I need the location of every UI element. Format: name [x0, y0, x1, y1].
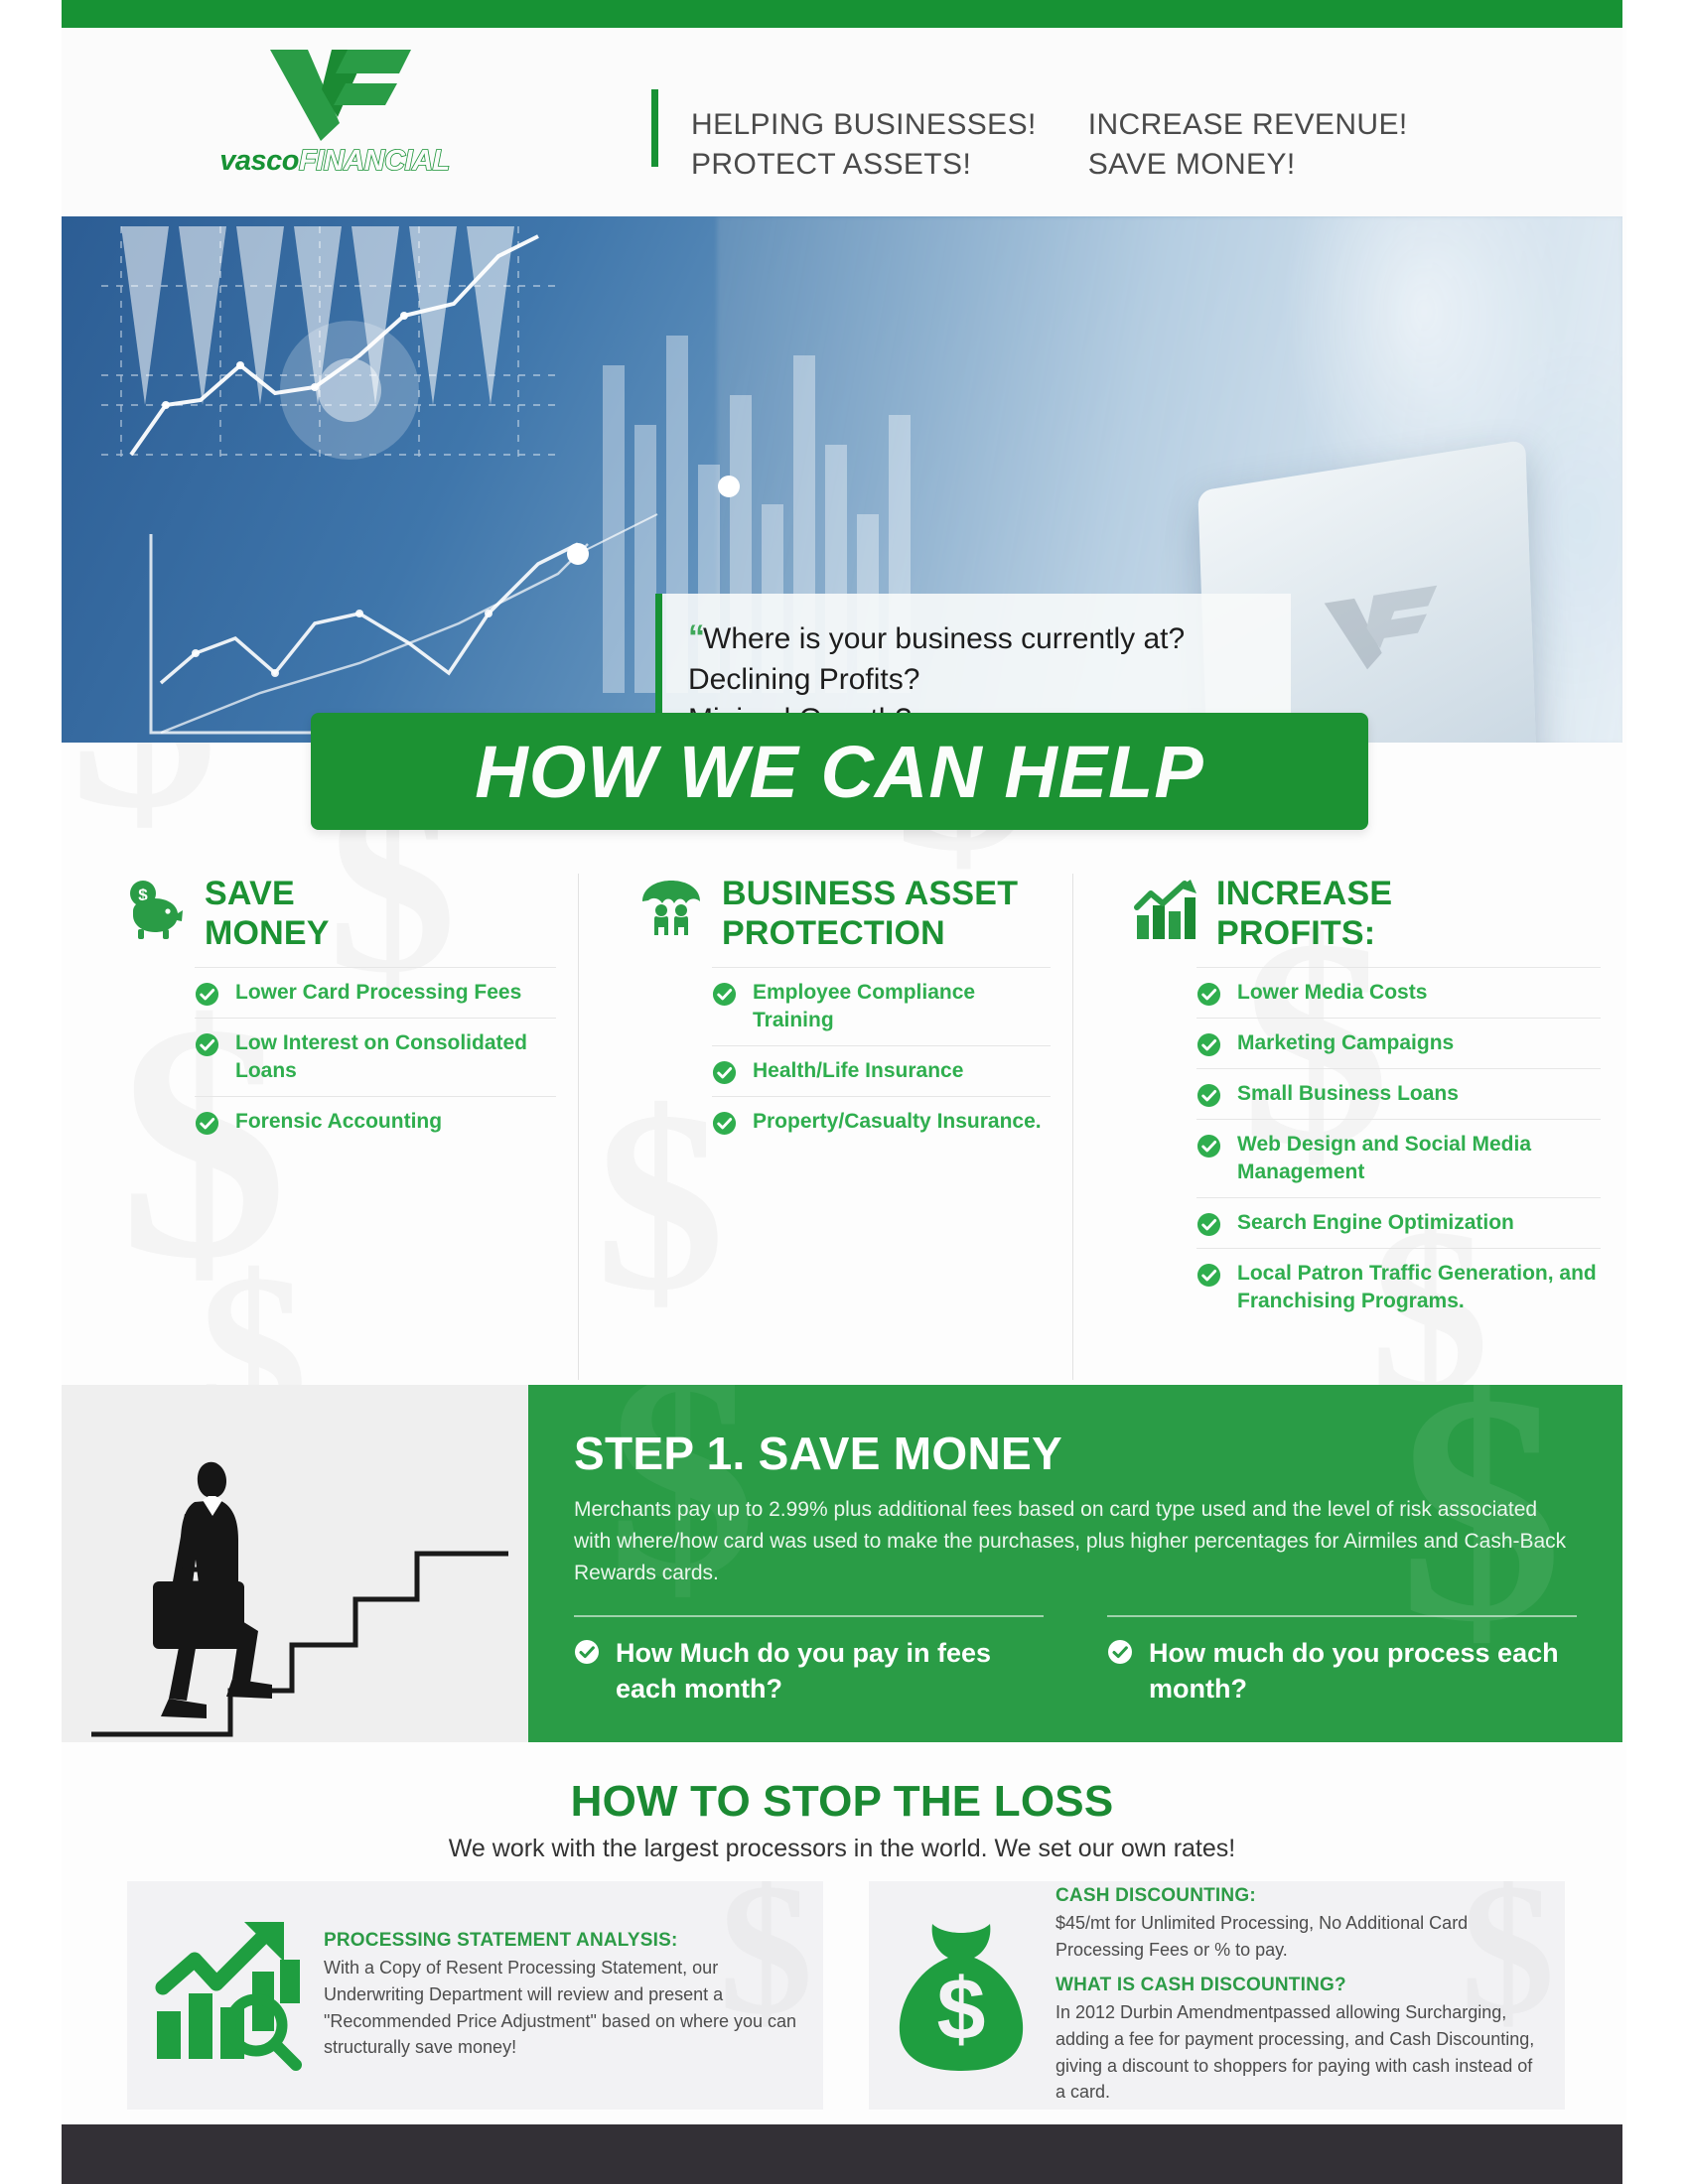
page-margin-right: [1626, 0, 1688, 2184]
feature-title-line: BUSINESS ASSET: [722, 874, 1018, 913]
tagline-line: SAVE MONEY!: [1088, 145, 1408, 185]
list-item-label: Lower Media Costs: [1237, 979, 1427, 1007]
feature-title-line: MONEY: [205, 913, 330, 953]
piggy-bank-icon: $: [121, 878, 187, 943]
list-item-label: Marketing Campaigns: [1237, 1029, 1454, 1057]
list-item[interactable]: Search Engine Optimization: [1196, 1197, 1601, 1248]
vf-logo-icon: [264, 46, 413, 141]
quote-line-2: Declining Profits?: [688, 660, 1265, 700]
check-circle-icon: [195, 1032, 219, 1057]
check-circle-icon: [712, 1060, 737, 1085]
money-bag-icon: $: [887, 1916, 1036, 2075]
step-question-label: How Much do you pay in fees each month?: [616, 1635, 1044, 1707]
chart-magnifier-icon: [145, 1916, 304, 2075]
step-question-1[interactable]: How Much do you pay in fees each month?: [574, 1615, 1044, 1707]
businessman-stairs-photo: [62, 1385, 528, 1742]
card-paragraph: $45/mt for Unlimited Processing, No Addi…: [1055, 1910, 1539, 1963]
check-circle-icon: [712, 1111, 737, 1136]
step-question-label: How much do you process each month?: [1149, 1635, 1577, 1707]
quote-text: Where is your business currently at?: [703, 622, 1185, 655]
footer-bar: [62, 2124, 1622, 2184]
tagline-column-1: HELPING BUSINESSES! PROTECT ASSETS!: [691, 105, 1037, 185]
brand-logo[interactable]: vascoFINANCIAL: [191, 46, 479, 185]
list-item-label: Employee Compliance Training: [753, 979, 1051, 1034]
list-item[interactable]: Local Patron Traffic Generation, and Fra…: [1196, 1248, 1601, 1326]
card-cash-discounting: $ $ CASH DISCOUNTING: $45/mt for Unlimit…: [869, 1881, 1565, 2110]
card-paragraph: In 2012 Durbin Amendmentpassed allowing …: [1055, 1999, 1539, 2106]
step-questions: How Much do you pay in fees each month? …: [574, 1615, 1577, 1707]
list-item-label: Local Patron Traffic Generation, and Fra…: [1237, 1260, 1601, 1315]
step-one-band: $ $ STEP 1. SAVE MONEY Merchants pay up …: [62, 1385, 1622, 1742]
top-accent-bar: [62, 0, 1622, 28]
card-body: CASH DISCOUNTING: $45/mt for Unlimited P…: [1055, 1885, 1539, 2106]
feature-column-save-money: $ SAVE MONEY Lower Card Proc: [62, 874, 578, 1380]
brand-name-primary: vasco: [219, 145, 299, 177]
how-we-can-help-banner: HOW WE CAN HELP: [311, 713, 1368, 830]
tagline-line: HELPING BUSINESSES!: [691, 105, 1037, 145]
list-item[interactable]: Health/Life Insurance: [712, 1045, 1051, 1096]
card-heading: WHAT IS CASH DISCOUNTING?: [1055, 1975, 1539, 1996]
check-circle-icon: [195, 1111, 219, 1136]
list-item-label: Search Engine Optimization: [1237, 1209, 1514, 1237]
feature-header: INCREASE PROFITS:: [1133, 874, 1601, 953]
feature-header: BUSINESS ASSET PROTECTION: [638, 874, 1051, 953]
tagline-column-2: INCREASE REVENUE! SAVE MONEY!: [1088, 105, 1408, 185]
card-heading: PROCESSING STATEMENT ANALYSIS:: [324, 1930, 797, 1952]
list-item[interactable]: Employee Compliance Training: [712, 967, 1051, 1045]
bottom-info-cards: $ PROCESSING STATEMENT ANALYSIS: With a …: [127, 1881, 1565, 2110]
step-title: STEP 1. SAVE MONEY: [574, 1427, 1577, 1480]
list-item-label: Small Business Loans: [1237, 1080, 1459, 1108]
feature-title: INCREASE PROFITS:: [1216, 874, 1392, 953]
list-item-label: Web Design and Social Media Management: [1237, 1131, 1601, 1186]
check-circle-icon: [1196, 982, 1221, 1007]
header-divider: [651, 89, 658, 167]
growth-chart-icon: [1133, 878, 1198, 943]
card-heading: CASH DISCOUNTING:: [1055, 1885, 1539, 1907]
list-item[interactable]: Web Design and Social Media Management: [1196, 1119, 1601, 1197]
feature-title-line: INCREASE: [1216, 874, 1392, 913]
feature-columns: $ SAVE MONEY Lower Card Proc: [62, 874, 1622, 1380]
list-item[interactable]: Forensic Accounting: [195, 1096, 556, 1147]
feature-list: Employee Compliance Training Health/Life…: [712, 967, 1051, 1147]
list-item[interactable]: Small Business Loans: [1196, 1068, 1601, 1119]
hero-banner: “Where is your business currently at? De…: [62, 216, 1622, 743]
feature-header: $ SAVE MONEY: [121, 874, 556, 953]
stop-the-loss-section: HOW TO STOP THE LOSS We work with the la…: [62, 1777, 1622, 1863]
feature-title-line: PROFITS:: [1216, 913, 1392, 953]
brand-wordmark: vascoFINANCIAL: [191, 145, 479, 178]
tagline-line: PROTECT ASSETS!: [691, 145, 1037, 185]
page-margin-left: [0, 0, 62, 2184]
feature-column-business-asset-protection: BUSINESS ASSET PROTECTION Employee Compl…: [578, 874, 1072, 1380]
list-item[interactable]: Lower Card Processing Fees: [195, 967, 556, 1018]
step-question-2[interactable]: How much do you process each month?: [1107, 1615, 1577, 1707]
list-item[interactable]: Marketing Campaigns: [1196, 1018, 1601, 1068]
quote-line-1: “Where is your business currently at?: [688, 615, 1265, 660]
tagline-line: INCREASE REVENUE!: [1088, 105, 1408, 145]
list-item-label: Property/Casualty Insurance.: [753, 1108, 1042, 1136]
check-circle-icon: [1196, 1032, 1221, 1057]
brand-name-secondary: FINANCIAL: [299, 145, 450, 177]
card-paragraph: With a Copy of Resent Processing Stateme…: [324, 1955, 797, 2061]
check-circle-icon: [1107, 1639, 1133, 1665]
list-item[interactable]: Property/Casualty Insurance.: [712, 1096, 1051, 1147]
feature-title: SAVE MONEY: [205, 874, 330, 953]
feature-title-line: PROTECTION: [722, 913, 1018, 953]
step-body-text: Merchants pay up to 2.99% plus additiona…: [574, 1494, 1577, 1589]
feature-list: Lower Media Costs Marketing Campaigns Sm…: [1196, 967, 1601, 1326]
card-processing-statement-analysis: $ PROCESSING STATEMENT ANALYSIS: With a …: [127, 1881, 823, 2110]
list-item-label: Health/Life Insurance: [753, 1057, 963, 1085]
feature-list: Lower Card Processing Fees Low Interest …: [195, 967, 556, 1147]
list-item[interactable]: Low Interest on Consolidated Loans: [195, 1018, 556, 1096]
check-circle-icon: [1196, 1263, 1221, 1288]
flyer-page: $ $ $ $ $ $ $ $ vascoFINANCIAL HELPING B…: [0, 0, 1688, 2184]
feature-column-increase-profits: INCREASE PROFITS: Lower Media Costs: [1072, 874, 1622, 1380]
page-header: vascoFINANCIAL HELPING BUSINESSES! PROTE…: [62, 28, 1622, 216]
umbrella-family-icon: [638, 878, 704, 943]
check-circle-icon: [1196, 1083, 1221, 1108]
quote-open-icon: “: [688, 618, 703, 656]
card-body: PROCESSING STATEMENT ANALYSIS: With a Co…: [324, 1930, 797, 2061]
check-circle-icon: [574, 1639, 600, 1665]
banner-title: HOW WE CAN HELP: [475, 730, 1203, 814]
feature-title: BUSINESS ASSET PROTECTION: [722, 874, 1018, 953]
section-title: HOW TO STOP THE LOSS: [62, 1777, 1622, 1827]
list-item-label: Forensic Accounting: [235, 1108, 442, 1136]
list-item-label: Lower Card Processing Fees: [235, 979, 521, 1007]
step-one-content: $ $ STEP 1. SAVE MONEY Merchants pay up …: [528, 1385, 1622, 1742]
svg-text:$: $: [937, 1960, 986, 2058]
list-item-label: Low Interest on Consolidated Loans: [235, 1029, 556, 1085]
list-item[interactable]: Lower Media Costs: [1196, 967, 1601, 1018]
section-subtitle: We work with the largest processors in t…: [62, 1835, 1622, 1863]
feature-title-line: SAVE: [205, 874, 330, 913]
businessman-climbing-stairs-icon: [62, 1385, 528, 1742]
header-taglines: HELPING BUSINESSES! PROTECT ASSETS! INCR…: [691, 105, 1408, 185]
check-circle-icon: [1196, 1134, 1221, 1159]
check-circle-icon: [195, 982, 219, 1007]
check-circle-icon: [712, 982, 737, 1007]
check-circle-icon: [1196, 1212, 1221, 1237]
